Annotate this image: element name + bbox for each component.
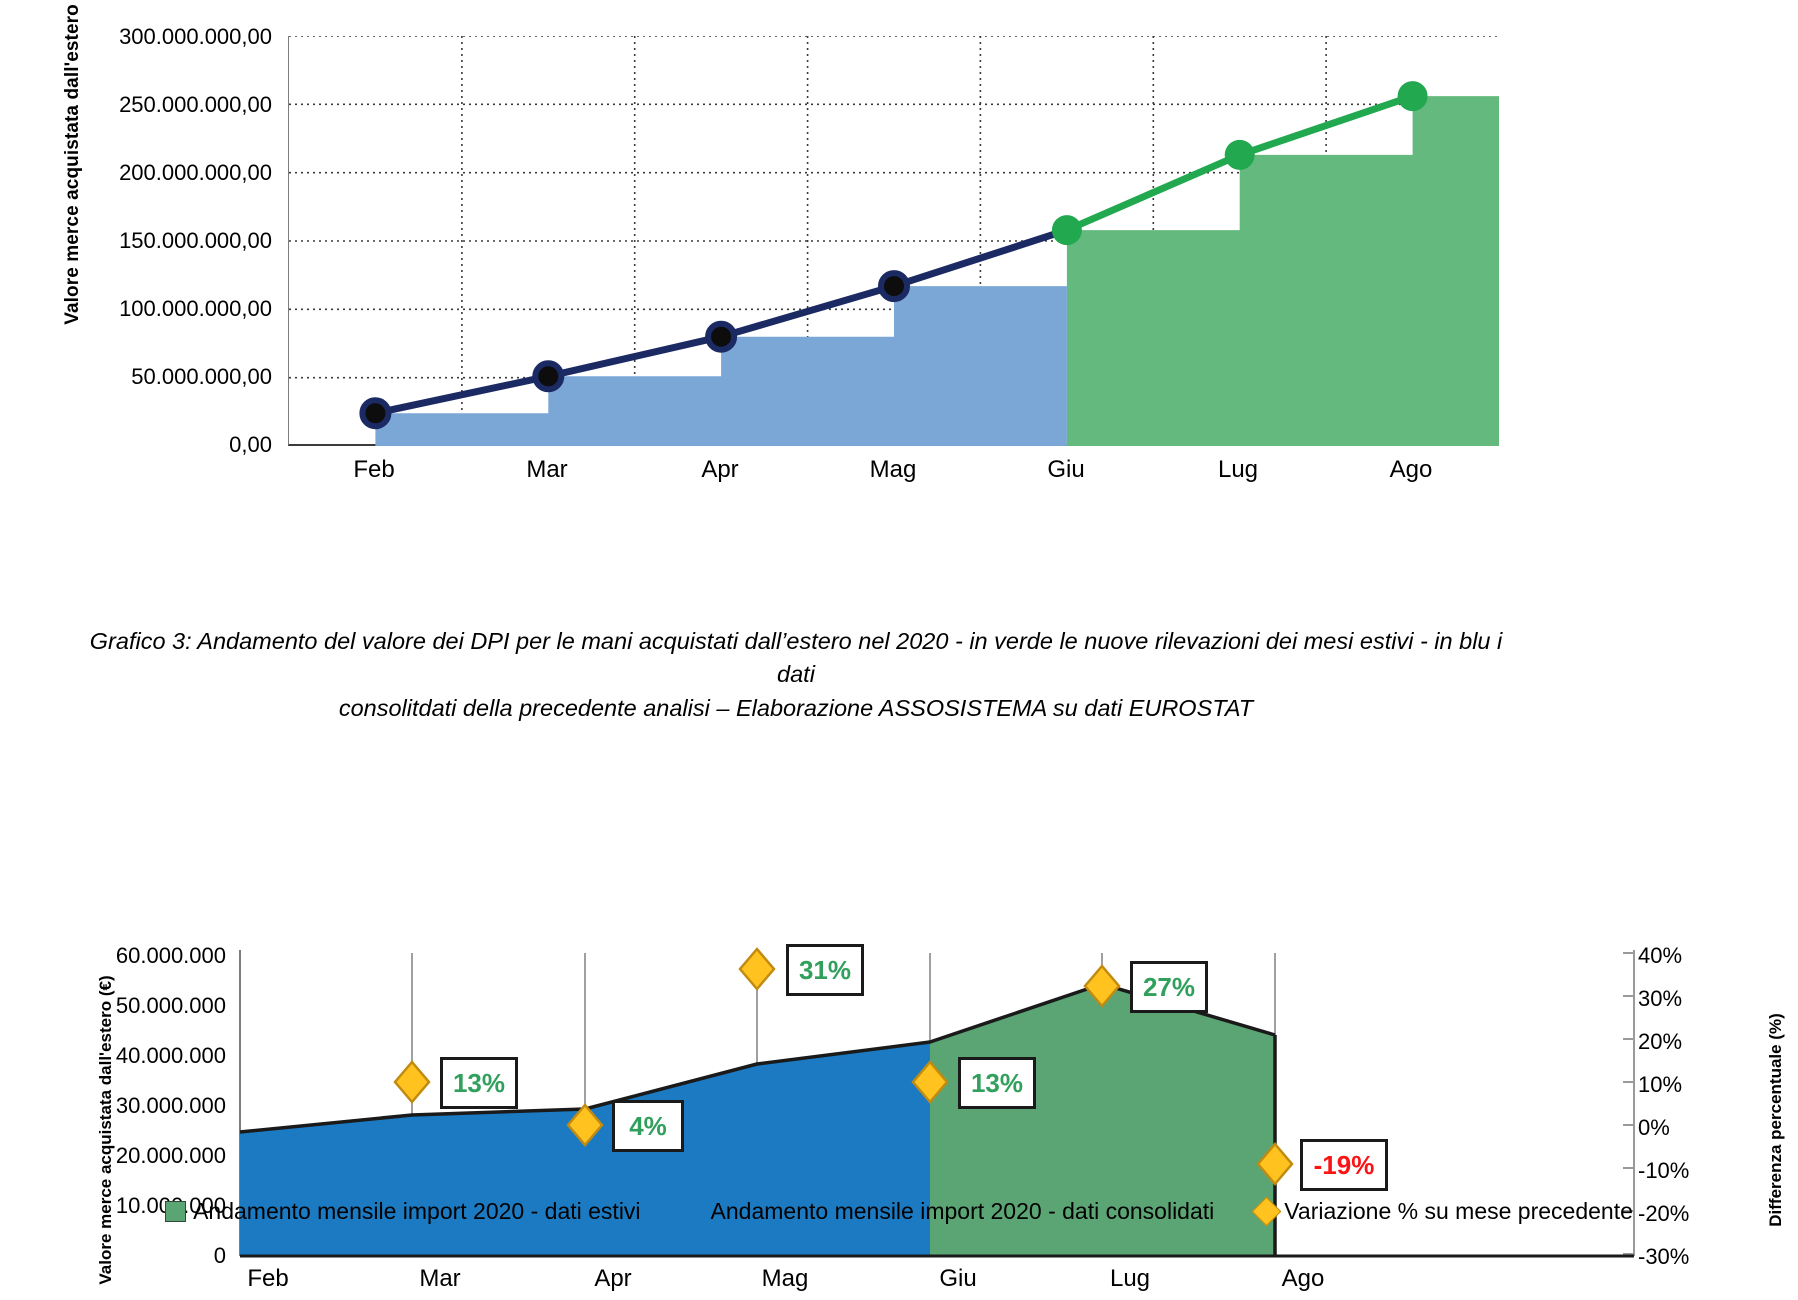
x-tick: Apr (660, 456, 780, 484)
x-tick: Apr (553, 1265, 673, 1293)
y-tick: 200.000.000,00 (119, 162, 272, 184)
chart-legend: Andamento mensile import 2020 - dati est… (0, 1198, 1798, 1225)
legend-item-variazione[interactable]: Variazione % su mese precedente (1256, 1198, 1633, 1225)
variation-callout-mag: 31% (786, 944, 864, 996)
x-tick: Ago (1351, 456, 1471, 484)
x-tick: Lug (1178, 456, 1298, 484)
legend-item-consolidati[interactable]: Andamento mensile import 2020 - dati con… (683, 1198, 1215, 1225)
variation-callout-apr: 4% (612, 1100, 684, 1152)
x-tick: Lug (1070, 1265, 1190, 1293)
y-tick: 250.000.000,00 (119, 94, 272, 116)
x-tick: Giu (1006, 456, 1126, 484)
y-tick: 100.000.000,00 (119, 298, 272, 320)
diamond-marker-mar (395, 1062, 429, 1102)
legend-label-variazione: Variazione % su mese precedente (1284, 1198, 1633, 1225)
cumulative-import-chart: Valore merce acquistata dall'estero (€) … (0, 0, 1798, 520)
variation-callout-mar: 13% (440, 1057, 518, 1109)
x-tick: Ago (1243, 1265, 1363, 1293)
caption-line-1: Grafico 3: Andamento del valore dei DPI … (86, 625, 1506, 692)
variation-callout-ago: -19% (1300, 1139, 1388, 1191)
legend-label-estivi: Andamento mensile import 2020 - dati est… (193, 1198, 640, 1225)
top-chart-svg (289, 36, 1499, 446)
y-tick: 300.000.000,00 (119, 26, 272, 48)
top-chart-plot-area (288, 36, 1498, 446)
blue-square-icon (683, 1201, 704, 1222)
x-tick: Feb (208, 1265, 328, 1293)
orange-diamond-icon (1252, 1197, 1282, 1227)
y-tick: 150.000.000,00 (119, 230, 272, 252)
green-step-area (1067, 96, 1499, 446)
x-tick: Mag (725, 1265, 845, 1293)
y-tick: 50.000.000,00 (131, 366, 272, 388)
x-tick: Giu (898, 1265, 1018, 1293)
variation-callout-giu: 13% (958, 1057, 1036, 1109)
x-tick: Feb (314, 456, 434, 484)
x-tick: Mar (380, 1265, 500, 1293)
legend-label-consolidati: Andamento mensile import 2020 - dati con… (711, 1198, 1215, 1225)
legend-item-estivi[interactable]: Andamento mensile import 2020 - dati est… (165, 1198, 640, 1225)
figure-container: Valore merce acquistata dall'estero (€) … (0, 0, 1798, 1290)
x-tick: Mar (487, 456, 607, 484)
green-square-icon (165, 1201, 186, 1222)
y-tick: 0,00 (229, 434, 272, 456)
variation-callout-lug: 27% (1130, 961, 1208, 1013)
diamond-marker-mag (740, 949, 774, 989)
x-tick: Mag (833, 456, 953, 484)
top-chart-y-axis-ticks: 300.000.000,00 250.000.000,00 200.000.00… (0, 0, 272, 450)
